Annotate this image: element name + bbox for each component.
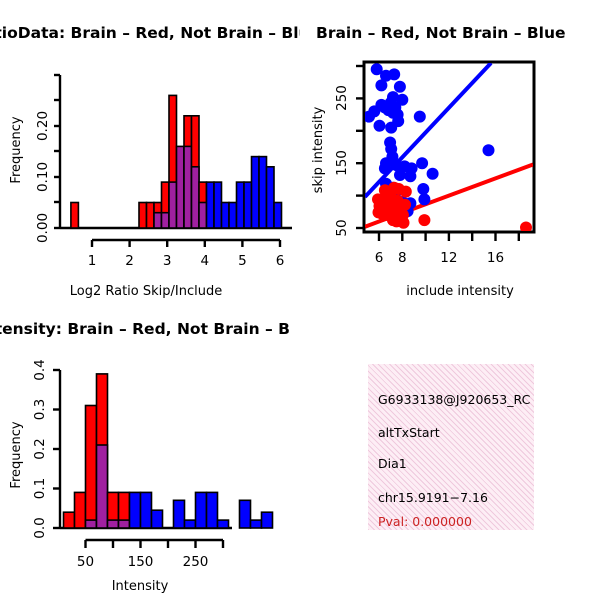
info-line-gene-symbol: Dia1 xyxy=(378,456,407,471)
svg-text:6: 6 xyxy=(375,250,384,266)
svg-text:16: 16 xyxy=(487,250,504,266)
svg-text:150: 150 xyxy=(128,554,154,570)
ratio-histogram-y-axis xyxy=(54,75,60,228)
svg-text:250: 250 xyxy=(334,85,350,111)
intensity-scatter-svg: skip intensity include intensity 50 150 … xyxy=(300,0,600,300)
intensity-scatter-y-ticklabels: 50 150 250 xyxy=(334,85,350,236)
svg-text:0.10: 0.10 xyxy=(35,162,51,192)
svg-text:5: 5 xyxy=(238,253,247,269)
ratio-histogram-x-ticklabels: 1 2 3 4 5 6 xyxy=(88,253,285,269)
gene-intensity-y-axis xyxy=(53,370,60,528)
svg-text:0.0: 0.0 xyxy=(32,517,48,538)
ratio-histogram-svg: Frequency Log2 Ratio Skip/Include 0.00 0… xyxy=(0,0,300,300)
svg-text:50: 50 xyxy=(334,219,350,236)
intensity-scatter-x-ticklabels: 6 8 12 16 xyxy=(375,250,504,266)
info-line-locus: chr15.9191−7.16 xyxy=(378,490,488,505)
scatter-points-brain xyxy=(372,182,532,234)
ratio-histogram-ylabel: Frequency xyxy=(9,116,24,183)
intensity-scatter-ylabel: skip intensity xyxy=(311,106,326,193)
svg-text:150: 150 xyxy=(334,150,350,176)
svg-text:4: 4 xyxy=(201,253,210,269)
ratio-histogram-xlabel: Log2 Ratio Skip/Include xyxy=(70,284,222,299)
svg-text:50: 50 xyxy=(77,554,94,570)
gene-intensity-x-axis xyxy=(86,540,224,548)
svg-text:0.3: 0.3 xyxy=(32,399,48,420)
gene-intensity-xlabel: Intensity xyxy=(112,579,169,594)
ratio-histogram-bars xyxy=(71,95,282,228)
svg-text:12: 12 xyxy=(440,250,457,266)
gene-info-box: G6933138@J920653_RC altTxStart Dia1 chr1… xyxy=(368,364,534,530)
svg-text:0.00: 0.00 xyxy=(35,213,51,243)
ratio-histogram-x-axis xyxy=(92,240,280,247)
ratio-histogram-y-ticklabels: 0.00 0.10 0.20 xyxy=(35,111,51,243)
svg-text:0.20: 0.20 xyxy=(35,111,51,141)
info-line-gene-id: G6933138@J920653_RC xyxy=(378,392,530,407)
intensity-scatter-xlabel: include intensity xyxy=(406,284,514,299)
svg-text:2: 2 xyxy=(125,253,134,269)
panel-ratio-histogram: RatioData: Brain – Red, Not Brain – Blu … xyxy=(0,0,300,300)
svg-text:1: 1 xyxy=(88,253,97,269)
svg-text:6: 6 xyxy=(276,253,285,269)
panel-gene-intensity-histogram: ne Itensity: Brain – Red, Not Brain – B … xyxy=(0,300,300,600)
gene-intensity-y-ticklabels: 0.0 0.1 0.2 0.3 0.4 xyxy=(32,359,48,538)
gene-intensity-bars xyxy=(64,374,273,528)
svg-text:250: 250 xyxy=(183,554,209,570)
info-line-event-type: altTxStart xyxy=(378,425,440,440)
gene-intensity-x-ticklabels: 50 150 250 xyxy=(77,554,208,570)
gene-intensity-ylabel: Frequency xyxy=(9,421,24,488)
svg-text:0.4: 0.4 xyxy=(32,359,48,380)
svg-text:3: 3 xyxy=(163,253,172,269)
svg-text:0.1: 0.1 xyxy=(32,478,48,499)
svg-text:0.2: 0.2 xyxy=(32,438,48,459)
panel-intensity-scatter: Brain – Red, Not Brain – Blue skip inten… xyxy=(300,0,600,300)
svg-text:8: 8 xyxy=(398,250,407,266)
gene-intensity-svg: Frequency Intensity 0.0 0.1 0.2 0.3 0.4 xyxy=(0,300,300,600)
info-line-pval: Pval: 0.000000 xyxy=(378,514,472,529)
